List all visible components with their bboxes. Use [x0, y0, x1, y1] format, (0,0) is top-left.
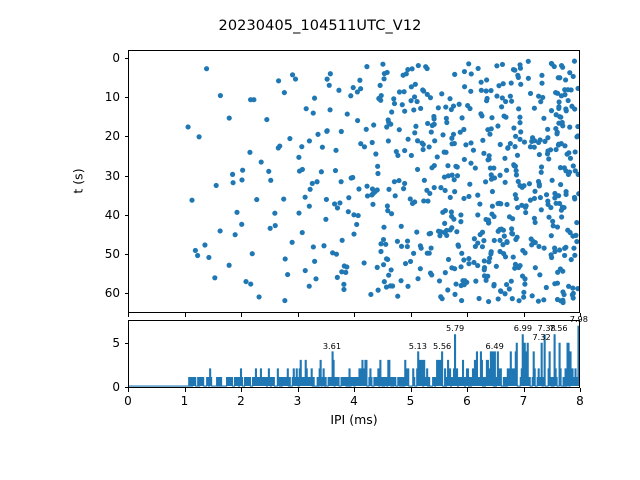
hist-x-tick-mark [298, 388, 299, 392]
hist-y-tick-label: 0 [82, 380, 120, 394]
hist-x-tick-mark [580, 388, 581, 392]
y-tick-label: 30 [82, 169, 120, 183]
y-tick-mark [125, 136, 129, 137]
peak-annotation: 7.98 [570, 314, 588, 324]
hist-x-tick-label: 3 [294, 394, 302, 408]
scatter-x-tick-mark [354, 313, 355, 317]
scatter-plot-axes [128, 50, 580, 313]
hist-x-tick-label: 2 [237, 394, 245, 408]
hist-x-tick-label: 0 [124, 394, 132, 408]
peak-annotation: 5.79 [446, 323, 464, 333]
histogram-outline [129, 326, 579, 386]
hist-x-tick-mark [128, 388, 129, 392]
hist-x-tick-label: 6 [463, 394, 471, 408]
hist-x-tick-label: 4 [350, 394, 358, 408]
hist-y-tick-mark [125, 343, 129, 344]
peak-annotation: 6.49 [486, 341, 504, 351]
y-tick-label: 20 [82, 129, 120, 143]
scatter-x-tick-mark [298, 313, 299, 317]
figure-title: 20230405_104511UTC_V12 [0, 18, 640, 34]
y-tick-label: 60 [82, 286, 120, 300]
y-tick-mark [125, 58, 129, 59]
peak-annotation: 7.56 [549, 323, 567, 333]
scatter-x-tick-mark [241, 313, 242, 317]
hist-x-tick-mark [185, 388, 186, 392]
peak-annotation: 7.32 [532, 332, 550, 342]
x-axis-label: IPI (ms) [330, 412, 377, 427]
hist-x-tick-label: 7 [520, 394, 528, 408]
y-tick-label: 0 [82, 51, 120, 65]
hist-x-tick-mark [524, 388, 525, 392]
scatter-x-tick-mark [411, 313, 412, 317]
y-tick-mark [125, 293, 129, 294]
hist-x-tick-mark [467, 388, 468, 392]
peak-annotation: 6.99 [514, 323, 532, 333]
hist-y-tick-label: 5 [82, 336, 120, 350]
hist-x-tick-mark [354, 388, 355, 392]
scatter-x-tick-mark [128, 313, 129, 317]
y-tick-mark [125, 254, 129, 255]
hist-x-tick-label: 5 [407, 394, 415, 408]
y-tick-mark [125, 176, 129, 177]
scatter-x-tick-mark [185, 313, 186, 317]
hist-x-tick-mark [411, 388, 412, 392]
y-tick-label: 50 [82, 247, 120, 261]
hist-x-tick-mark [241, 388, 242, 392]
y-tick-mark [125, 97, 129, 98]
y-axis-label: t (s) [71, 168, 86, 193]
peak-annotation: 3.61 [323, 341, 341, 351]
peak-annotation: 5.13 [409, 341, 427, 351]
scatter-x-tick-mark [467, 313, 468, 317]
matplotlib-figure: 20230405_104511UTC_V12 0102030405060 t (… [0, 0, 640, 480]
hist-x-tick-label: 8 [576, 394, 584, 408]
hist-x-tick-label: 1 [181, 394, 189, 408]
y-tick-mark [125, 215, 129, 216]
histogram-axes [128, 320, 580, 388]
scatter-x-tick-mark [524, 313, 525, 317]
histogram-line-layer [129, 321, 579, 387]
y-tick-label: 10 [82, 90, 120, 104]
scatter-points-layer [129, 51, 579, 312]
y-tick-label: 40 [82, 208, 120, 222]
peak-annotation: 5.56 [433, 341, 451, 351]
